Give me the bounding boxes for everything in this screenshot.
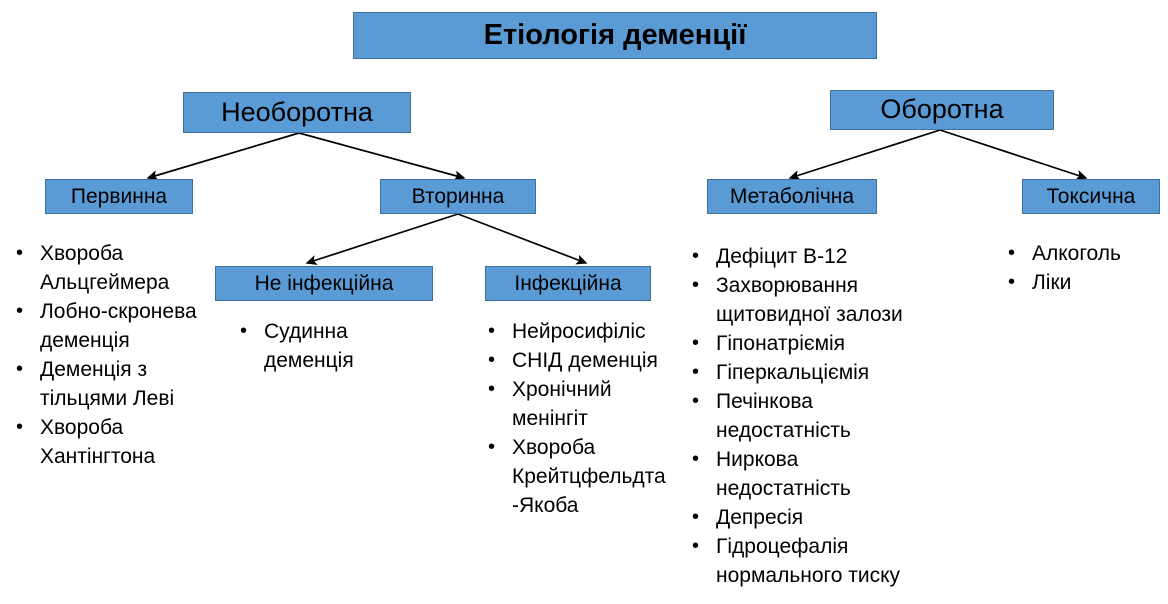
node-irreversible-label: Необоротна: [221, 98, 373, 128]
list-primary-causes: Хвороба АльцгеймераЛобно-скронева деменц…: [12, 240, 197, 472]
list-item: Захворювання щитовидної залози: [688, 272, 934, 330]
node-secondary-label: Вторинна: [412, 185, 505, 208]
node-toxic[interactable]: Токсична: [1022, 179, 1160, 214]
node-metabolic[interactable]: Метаболічна: [707, 179, 877, 214]
node-secondary[interactable]: Вторинна: [380, 179, 536, 214]
list-item: Гіперкальціємія: [688, 359, 934, 388]
node-irreversible[interactable]: Необоротна: [183, 92, 411, 133]
list-noninfectious-causes: Судинна деменція: [236, 318, 416, 376]
list-item: Хвороба Крейтцфельдта -Якоба: [484, 434, 669, 521]
list-item: Хронічний менінгіт: [484, 376, 669, 434]
node-title-label: Етіологія деменції: [484, 20, 747, 52]
list-item: Ліки: [1004, 269, 1164, 298]
node-infectious[interactable]: Інфекційна: [485, 266, 651, 301]
node-noninfectious[interactable]: Не інфекційна: [215, 266, 433, 301]
node-reversible-label: Оборотна: [880, 95, 1003, 125]
node-toxic-label: Токсична: [1047, 185, 1136, 208]
list-item: Хвороба Хантінгтона: [12, 414, 197, 472]
connector-reversible-to-toxic: [940, 130, 1086, 178]
diagram-canvas: Етіологія деменції Необоротна Оборотна П…: [0, 0, 1168, 604]
node-metabolic-label: Метаболічна: [730, 185, 854, 208]
list-item: Печінкова недостатність: [688, 388, 934, 446]
list-item: Лобно-скронева деменція: [12, 298, 197, 356]
list-item: Депресія: [688, 504, 934, 533]
list-metabolic-causes: Дефіцит В-12Захворювання щитовидної зало…: [688, 243, 934, 591]
connector-reversible-to-metabolic: [790, 130, 940, 178]
list-item: Алкоголь: [1004, 240, 1164, 269]
connector-secondary-to-infectious: [458, 214, 586, 263]
node-reversible[interactable]: Оборотна: [830, 90, 1054, 130]
list-infectious-causes: НейросифілісСНІД деменціяХронічний менін…: [484, 318, 669, 521]
list-item: Ниркова недостатність: [688, 446, 934, 504]
node-title-etiology[interactable]: Етіологія деменції: [353, 12, 877, 59]
node-noninfectious-label: Не інфекційна: [255, 272, 394, 295]
list-toxic-causes: АлкогольЛіки: [1004, 240, 1164, 298]
connector-irreversible-to-secondary: [299, 133, 464, 178]
list-item: Гідроцефалія нормального тиску: [688, 533, 934, 591]
connector-irreversible-to-primary: [148, 133, 299, 178]
list-item: Хвороба Альцгеймера: [12, 240, 197, 298]
node-primary-label: Первинна: [71, 185, 167, 208]
node-primary[interactable]: Первинна: [45, 179, 193, 214]
list-item: Гіпонатріємія: [688, 330, 934, 359]
list-item: Нейросифіліс: [484, 318, 669, 347]
list-item: Дефіцит В-12: [688, 243, 934, 272]
list-item: СНІД деменція: [484, 347, 669, 376]
list-item: Судинна деменція: [236, 318, 416, 376]
list-item: Деменція з тільцями Леві: [12, 356, 197, 414]
connector-secondary-to-noninfectious: [307, 214, 458, 263]
node-infectious-label: Інфекційна: [514, 272, 621, 295]
